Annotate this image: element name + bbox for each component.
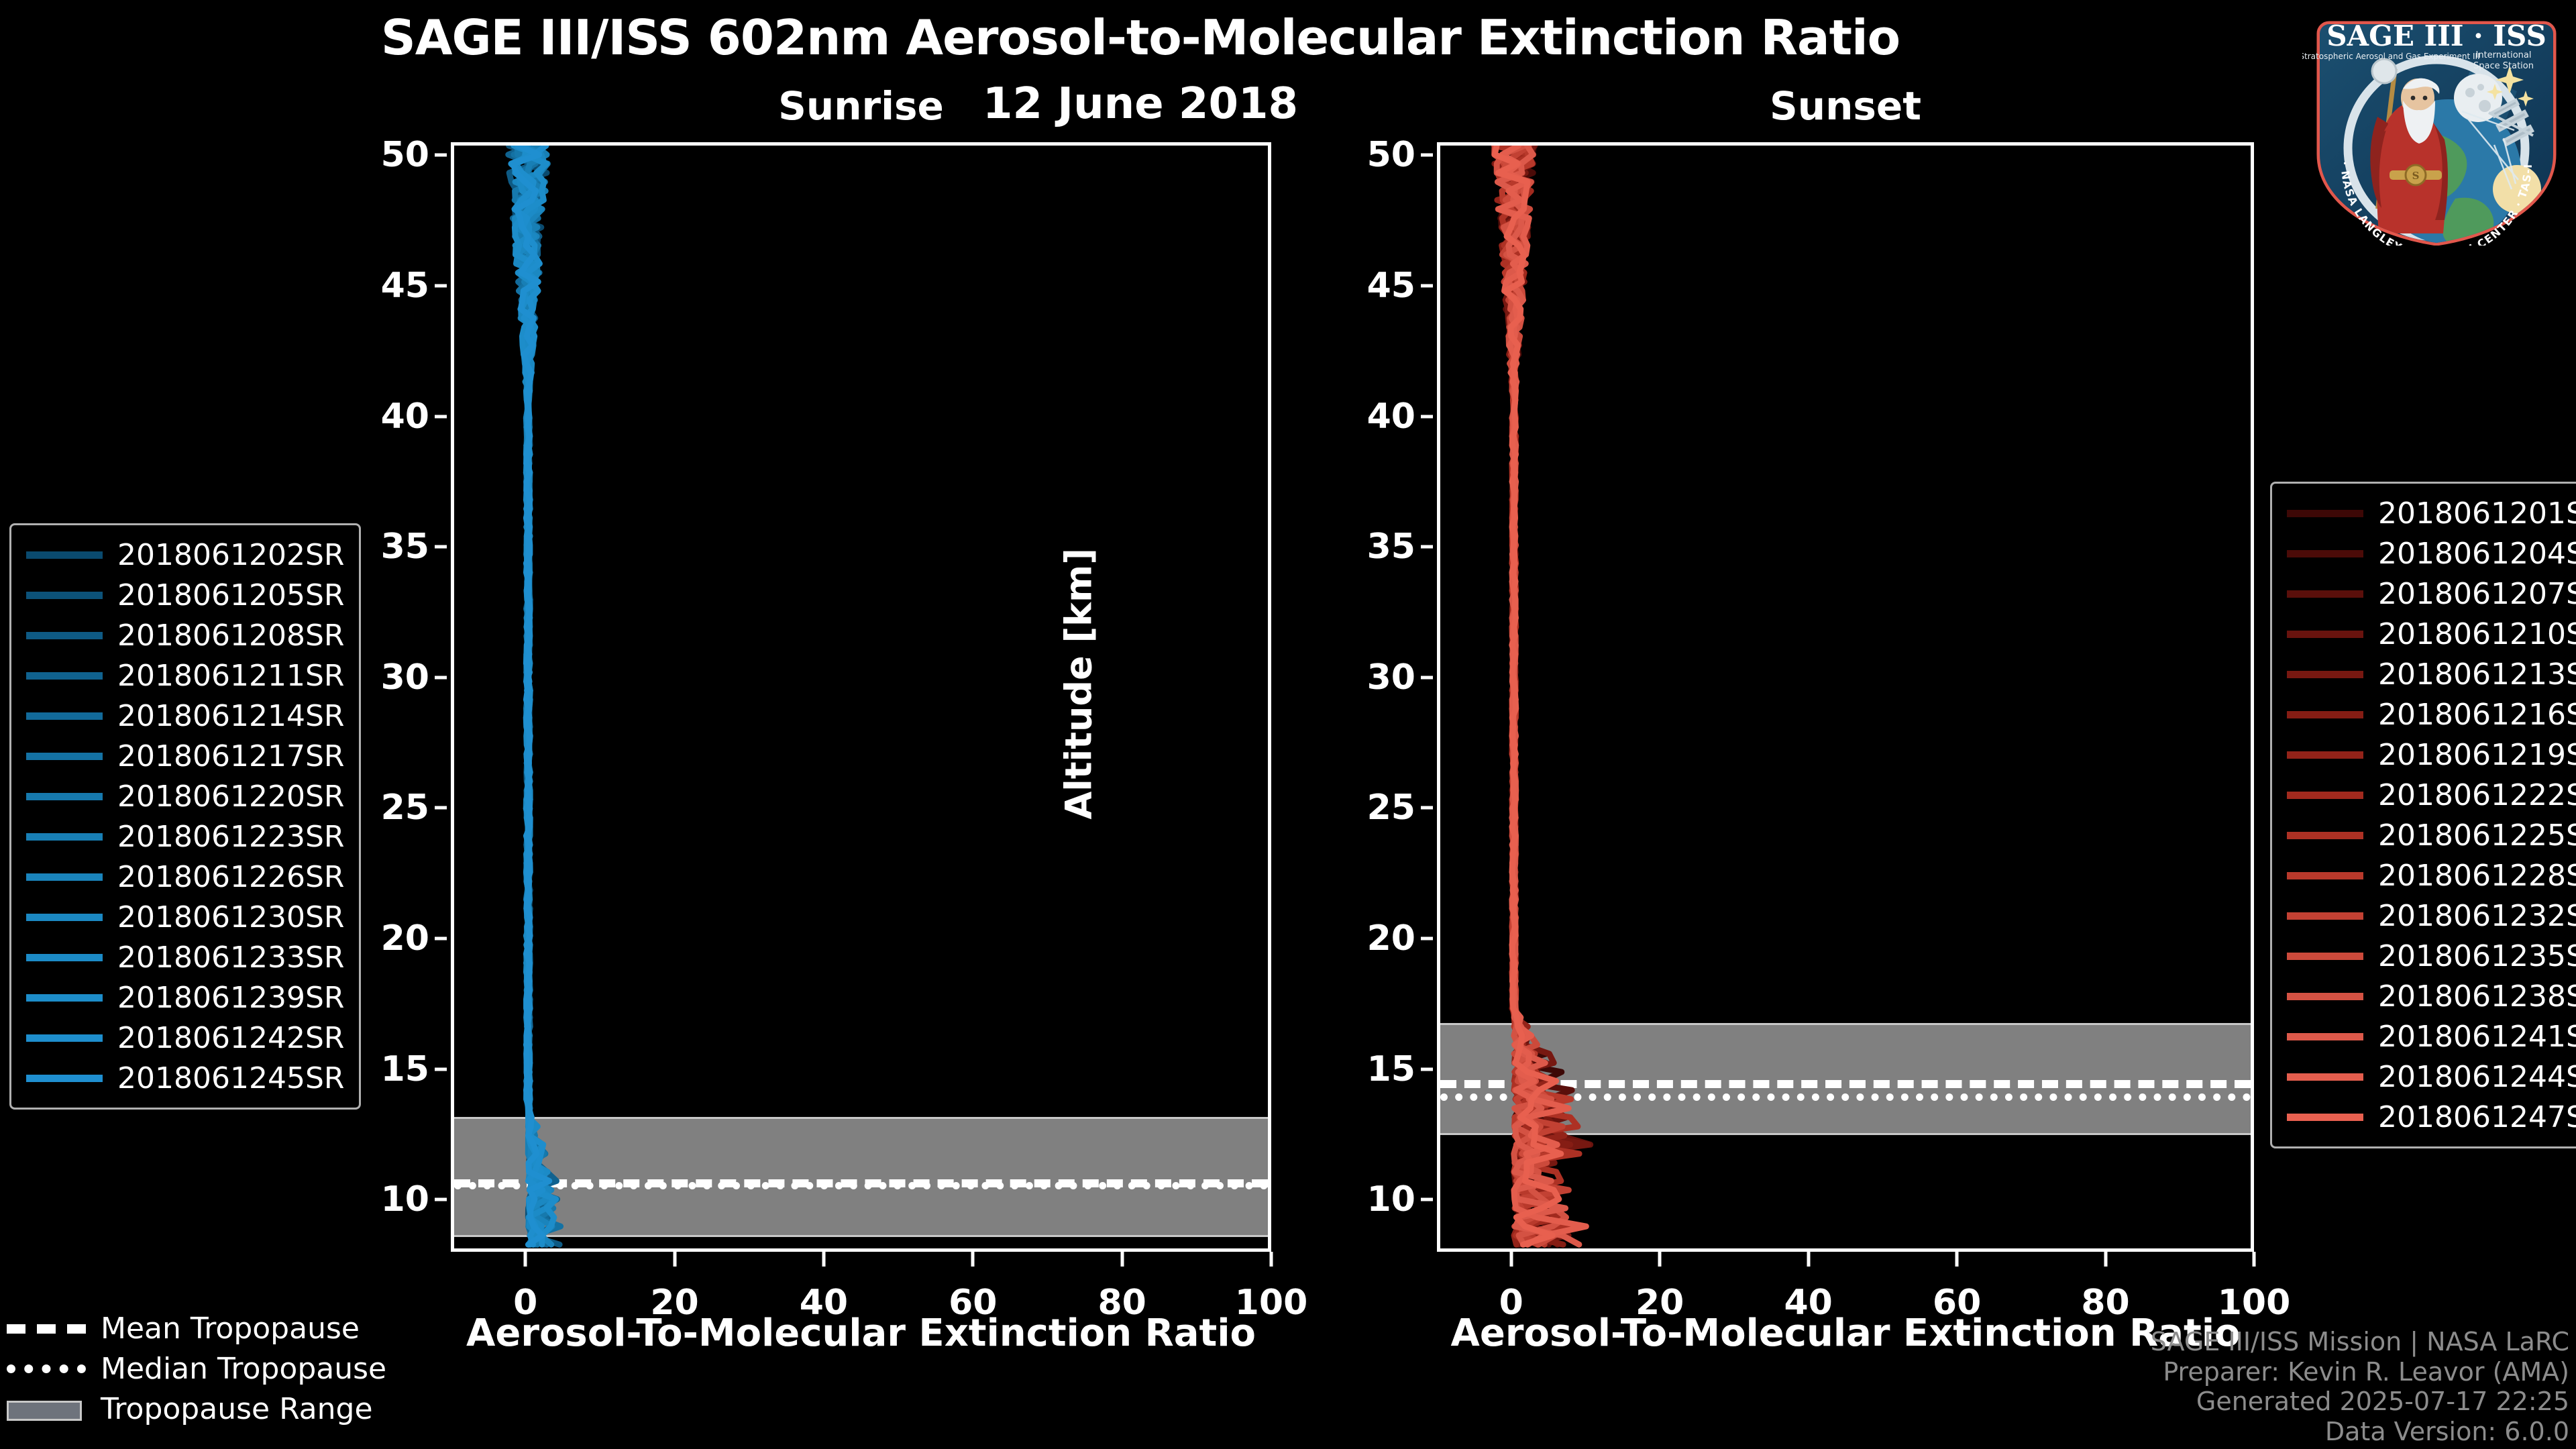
logo-title: SAGE III · ISS: [2326, 19, 2546, 52]
svg-text:S: S: [2412, 170, 2420, 182]
legend-item-label: 2018061235SS: [2378, 939, 2576, 973]
legend-item[interactable]: 2018061225SS: [2287, 815, 2576, 855]
y-tick-mark: [1421, 284, 1433, 288]
legend-item[interactable]: 2018061232SS: [2287, 896, 2576, 936]
logo-subtitle-right-2: Space Station: [2473, 61, 2534, 71]
legend-color-swatch: [2287, 1033, 2363, 1040]
legend-item[interactable]: 2018061211SR: [26, 655, 344, 696]
legend-item-label: 2018061220SR: [117, 780, 344, 814]
legend-item-label: 2018061241SS: [2378, 1020, 2576, 1054]
legend-item-label: 2018061202SR: [117, 538, 344, 572]
legend-item-tropopause-range: Tropopause Range: [7, 1389, 386, 1429]
legend-item-label: 2018061230SR: [117, 900, 344, 934]
legend-color-swatch: [26, 873, 103, 881]
filled-band-icon: [7, 1401, 86, 1417]
legend-item[interactable]: 2018061216SS: [2287, 694, 2576, 735]
legend-item[interactable]: 2018061239SR: [26, 977, 344, 1018]
legend-color-swatch: [26, 793, 103, 800]
legend-label-tropopause-range: Tropopause Range: [101, 1392, 373, 1426]
x-tick-mark: [1807, 1252, 1810, 1267]
legend-item-label: 2018061222SS: [2378, 778, 2576, 812]
legend-color-swatch: [2287, 510, 2363, 517]
legend-item-label: 2018061239SR: [117, 981, 344, 1015]
legend-item-mean-tropopause: Mean Tropopause: [7, 1308, 386, 1348]
sunrise-profile-lines: [454, 146, 1268, 1248]
legend-item-label: 2018061247SS: [2378, 1100, 2576, 1134]
legend-item[interactable]: 2018061233SR: [26, 937, 344, 977]
legend-color-swatch: [26, 954, 103, 961]
x-tick-mark: [822, 1252, 825, 1267]
page-title: SAGE III/ISS 602nm Aerosol-to-Molecular …: [0, 9, 2281, 66]
dashed-line-icon: [7, 1320, 86, 1336]
legend-item-label: 2018061225SS: [2378, 818, 2576, 853]
legend-color-swatch: [2287, 711, 2363, 718]
legend-item[interactable]: 2018061207SS: [2287, 574, 2576, 614]
legend-item[interactable]: 2018061201SS: [2287, 493, 2576, 533]
tropopause-legend: Mean Tropopause Median Tropopause Tropop…: [7, 1308, 386, 1429]
legend-color-swatch: [2287, 872, 2363, 879]
legend-item[interactable]: 2018061204SS: [2287, 533, 2576, 574]
legend-color-swatch: [2287, 1114, 2363, 1121]
x-tick-mark: [1955, 1252, 1959, 1267]
sunset-plot-area: [1437, 142, 2254, 1252]
sunset-y-axis-label: Altitude [km]: [1058, 565, 1100, 820]
y-tick-mark: [435, 676, 447, 679]
x-tick-mark: [524, 1252, 527, 1267]
legend-item[interactable]: 2018061230SR: [26, 897, 344, 937]
x-tick-mark: [1658, 1252, 1662, 1267]
y-tick-mark: [435, 936, 447, 940]
legend-color-swatch: [2287, 953, 2363, 960]
legend-color-swatch: [2287, 671, 2363, 678]
y-tick-mark: [435, 415, 447, 418]
legend-color-swatch: [26, 712, 103, 720]
y-tick-mark: [1421, 936, 1433, 940]
legend-color-swatch: [2287, 751, 2363, 759]
dotted-line-icon: [7, 1360, 86, 1377]
x-tick-mark: [2253, 1252, 2256, 1267]
y-tick-mark: [1421, 154, 1433, 157]
x-tick-mark: [2104, 1252, 2107, 1267]
legend-color-swatch: [26, 632, 103, 639]
legend-color-swatch: [2287, 590, 2363, 598]
legend-item-label: 2018061238SS: [2378, 979, 2576, 1014]
legend-color-swatch: [26, 833, 103, 841]
sunset-x-axis-label: Aerosol-To-Molecular Extinction Ratio: [1437, 1311, 2254, 1355]
legend-color-swatch: [2287, 993, 2363, 1000]
legend-label-median-tropopause: Median Tropopause: [101, 1352, 386, 1386]
x-tick-mark: [1270, 1252, 1273, 1267]
sunrise-plot-area: [451, 142, 1271, 1252]
legend-item[interactable]: 2018061226SR: [26, 857, 344, 897]
credits-line-generated: Generated 2025-07-17 22:25: [2151, 1387, 2569, 1416]
y-tick-mark: [435, 1198, 447, 1201]
legend-item[interactable]: 2018061219SS: [2287, 735, 2576, 775]
legend-item-label: 2018061216SS: [2378, 698, 2576, 732]
sunset-y-axis: 101520253035404550: [1319, 142, 1433, 1252]
credits-line-mission: SAGE III/ISS Mission | NASA LaRC: [2151, 1327, 2569, 1356]
y-tick-mark: [1421, 1067, 1433, 1071]
y-tick-mark: [1421, 1198, 1433, 1201]
legend-label-mean-tropopause: Mean Tropopause: [101, 1311, 360, 1346]
y-tick-mark: [435, 806, 447, 810]
sunrise-x-axis-label: Aerosol-To-Molecular Extinction Ratio: [451, 1311, 1271, 1355]
legend-color-swatch: [2287, 631, 2363, 638]
legend-item-label: 2018061214SR: [117, 699, 344, 733]
sunset-legend: 2018061201SS2018061204SS2018061207SS2018…: [2270, 482, 2576, 1148]
sunrise-legend: 2018061202SR2018061205SR2018061208SR2018…: [9, 523, 361, 1110]
legend-item[interactable]: 2018061202SR: [26, 535, 344, 575]
legend-item[interactable]: 2018061205SR: [26, 575, 344, 615]
legend-item[interactable]: 2018061238SS: [2287, 976, 2576, 1016]
legend-item[interactable]: 2018061217SR: [26, 736, 344, 776]
legend-color-swatch: [26, 753, 103, 760]
legend-item-label: 2018061205SR: [117, 578, 344, 612]
legend-color-swatch: [2287, 792, 2363, 799]
legend-item[interactable]: 2018061241SS: [2287, 1016, 2576, 1057]
legend-item[interactable]: 2018061245SR: [26, 1058, 344, 1098]
legend-color-swatch: [2287, 832, 2363, 839]
legend-item-label: 2018061207SS: [2378, 577, 2576, 611]
legend-color-swatch: [26, 592, 103, 599]
legend-item-label: 2018061232SS: [2378, 899, 2576, 933]
legend-item-label: 2018061233SR: [117, 941, 344, 975]
y-tick-mark: [1421, 806, 1433, 810]
legend-color-swatch: [2287, 1073, 2363, 1081]
legend-item[interactable]: 2018061210SS: [2287, 614, 2576, 654]
y-tick-mark: [1421, 676, 1433, 679]
legend-item-label: 2018061223SR: [117, 820, 344, 854]
legend-item-label: 2018061226SR: [117, 860, 344, 894]
credits-line-preparer: Preparer: Kevin R. Leavor (AMA): [2151, 1357, 2569, 1387]
legend-item-label: 2018061208SR: [117, 619, 344, 653]
y-tick-mark: [435, 154, 447, 157]
sage-iii-iss-mission-patch-logo: S BALL · NASA LANGLEY RESEARCH CENTER · …: [2302, 4, 2571, 246]
sunset-panel-title: Sunset: [1437, 83, 2254, 129]
legend-item-label: 2018061211SR: [117, 659, 344, 693]
legend-item[interactable]: 2018061208SR: [26, 615, 344, 655]
sunset-profile-lines: [1440, 146, 2251, 1248]
legend-item[interactable]: 2018061242SR: [26, 1018, 344, 1058]
credits-line-version: Data Version: 6.0.0: [2151, 1417, 2569, 1446]
legend-item-label: 2018061228SS: [2378, 859, 2576, 893]
logo-subtitle-left: Stratospheric Aerosol and Gas Experiment…: [2302, 52, 2480, 61]
legend-color-swatch: [26, 1034, 103, 1042]
y-tick-mark: [1421, 545, 1433, 549]
legend-item-median-tropopause: Median Tropopause: [7, 1348, 386, 1389]
legend-item[interactable]: 2018061244SS: [2287, 1057, 2576, 1097]
legend-color-swatch: [26, 551, 103, 559]
credits-block: SAGE III/ISS Mission | NASA LaRC Prepare…: [2151, 1327, 2569, 1446]
legend-item-label: 2018061242SR: [117, 1021, 344, 1055]
legend-color-swatch: [2287, 912, 2363, 920]
legend-item-label: 2018061219SS: [2378, 738, 2576, 772]
legend-item-label: 2018061204SS: [2378, 537, 2576, 571]
legend-color-swatch: [26, 914, 103, 921]
legend-item-label: 2018061201SS: [2378, 496, 2576, 531]
legend-item[interactable]: 2018061228SS: [2287, 855, 2576, 896]
y-tick-mark: [435, 1067, 447, 1071]
y-tick-mark: [1421, 415, 1433, 418]
legend-item-label: 2018061244SS: [2378, 1060, 2576, 1094]
legend-item[interactable]: 2018061220SR: [26, 776, 344, 816]
logo-subtitle-right-1: International: [2476, 50, 2532, 60]
legend-color-swatch: [26, 672, 103, 680]
legend-item-label: 2018061245SR: [117, 1061, 344, 1095]
legend-item[interactable]: 2018061223SR: [26, 816, 344, 857]
y-tick-mark: [435, 545, 447, 549]
sunrise-panel-title: Sunrise: [451, 83, 1271, 129]
legend-item-label: 2018061210SS: [2378, 617, 2576, 651]
legend-item-label: 2018061213SS: [2378, 657, 2576, 692]
legend-color-swatch: [2287, 550, 2363, 557]
y-tick-mark: [435, 284, 447, 288]
legend-item[interactable]: 2018061235SS: [2287, 936, 2576, 976]
legend-item-label: 2018061217SR: [117, 739, 344, 773]
legend-color-swatch: [26, 1075, 103, 1082]
legend-item[interactable]: 2018061213SS: [2287, 654, 2576, 694]
x-tick-mark: [1120, 1252, 1124, 1267]
x-tick-mark: [673, 1252, 676, 1267]
legend-item[interactable]: 2018061222SS: [2287, 775, 2576, 815]
legend-item[interactable]: 2018061214SR: [26, 696, 344, 736]
legend-color-swatch: [26, 994, 103, 1002]
legend-item[interactable]: 2018061247SS: [2287, 1097, 2576, 1137]
x-tick-mark: [971, 1252, 975, 1267]
x-tick-mark: [1509, 1252, 1513, 1267]
